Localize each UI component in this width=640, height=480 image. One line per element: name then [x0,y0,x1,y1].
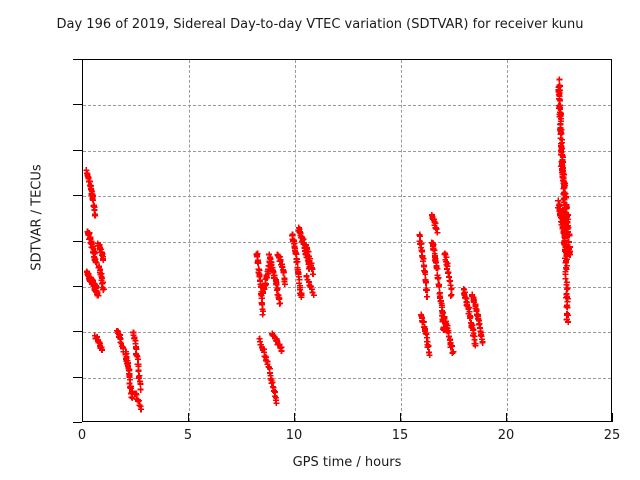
x-axis-tick-label: 10 [264,428,324,443]
scatter-marker-group [83,77,573,413]
y-axis-tick-mark [73,150,82,151]
y-axis-tick-mark [73,331,82,332]
y-axis-tick-mark [73,241,82,242]
x-axis-tick-mark [294,413,295,422]
x-axis-tick-label: 25 [582,428,640,443]
chart-title: Day 196 of 2019, Sidereal Day-to-day VTE… [0,17,640,32]
y-axis-tick-mark [73,377,82,378]
x-axis-tick-mark [400,413,401,422]
x-axis-tick-mark [612,413,613,422]
y-axis-tick-mark [73,286,82,287]
y-axis-tick-mark [73,59,82,60]
x-axis-tick-label: 15 [370,428,430,443]
x-axis-tick-label: 5 [158,428,218,443]
y-axis-tick-mark [73,422,82,423]
x-axis-tick-mark [188,413,189,422]
x-axis-tick-label: 0 [52,428,112,443]
chart-root: Day 196 of 2019, Sidereal Day-to-day VTE… [0,0,640,480]
x-axis-tick-label: 20 [476,428,536,443]
x-axis-tick-mark [506,413,507,422]
y-axis-label: SDTVAR / TECUs [30,118,45,318]
plot-area [82,59,612,422]
y-axis-tick-mark [73,195,82,196]
y-axis-tick-mark [73,104,82,105]
x-axis-label: GPS time / hours [82,455,612,470]
data-markers-layer [83,60,611,421]
x-axis-tick-mark [82,413,83,422]
